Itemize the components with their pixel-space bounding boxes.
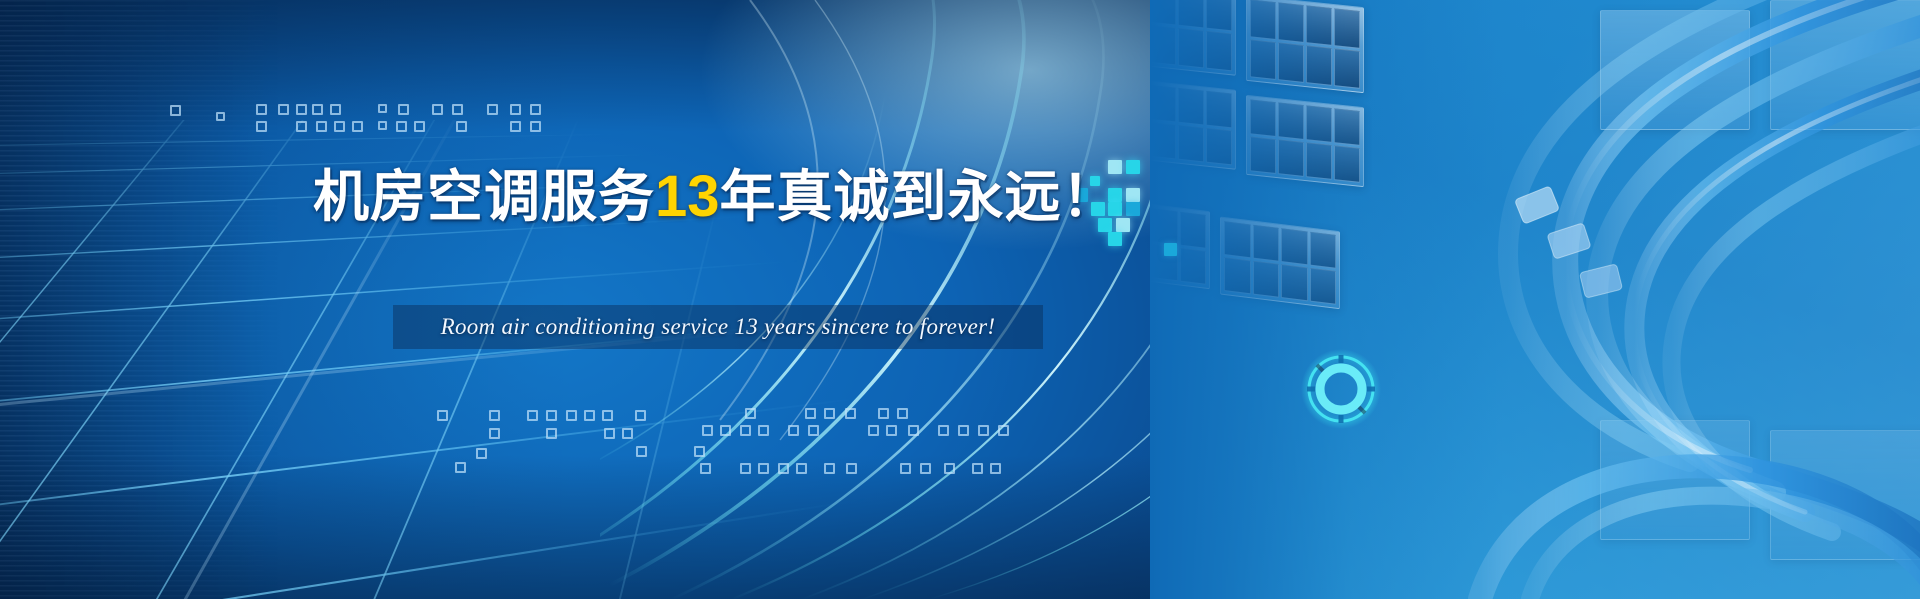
pixel-mosaic-lower — [0, 330, 1100, 510]
hero-banner: 机房空调服务13年真诚到永远！ Room air conditioning se… — [0, 0, 1920, 599]
headline-highlight-number: 13 — [655, 164, 720, 229]
banner-headline: 机房空调服务13年真诚到永远！ — [313, 168, 1119, 226]
headline-suffix: 年真诚到永远！ — [720, 165, 1119, 228]
headline-prefix: 机房空调服务 — [313, 165, 655, 228]
glowing-ring-icon — [1299, 347, 1383, 431]
server-room-photo — [1150, 0, 1920, 599]
banner-subtitle: Room air conditioning service 13 years s… — [393, 305, 1043, 349]
